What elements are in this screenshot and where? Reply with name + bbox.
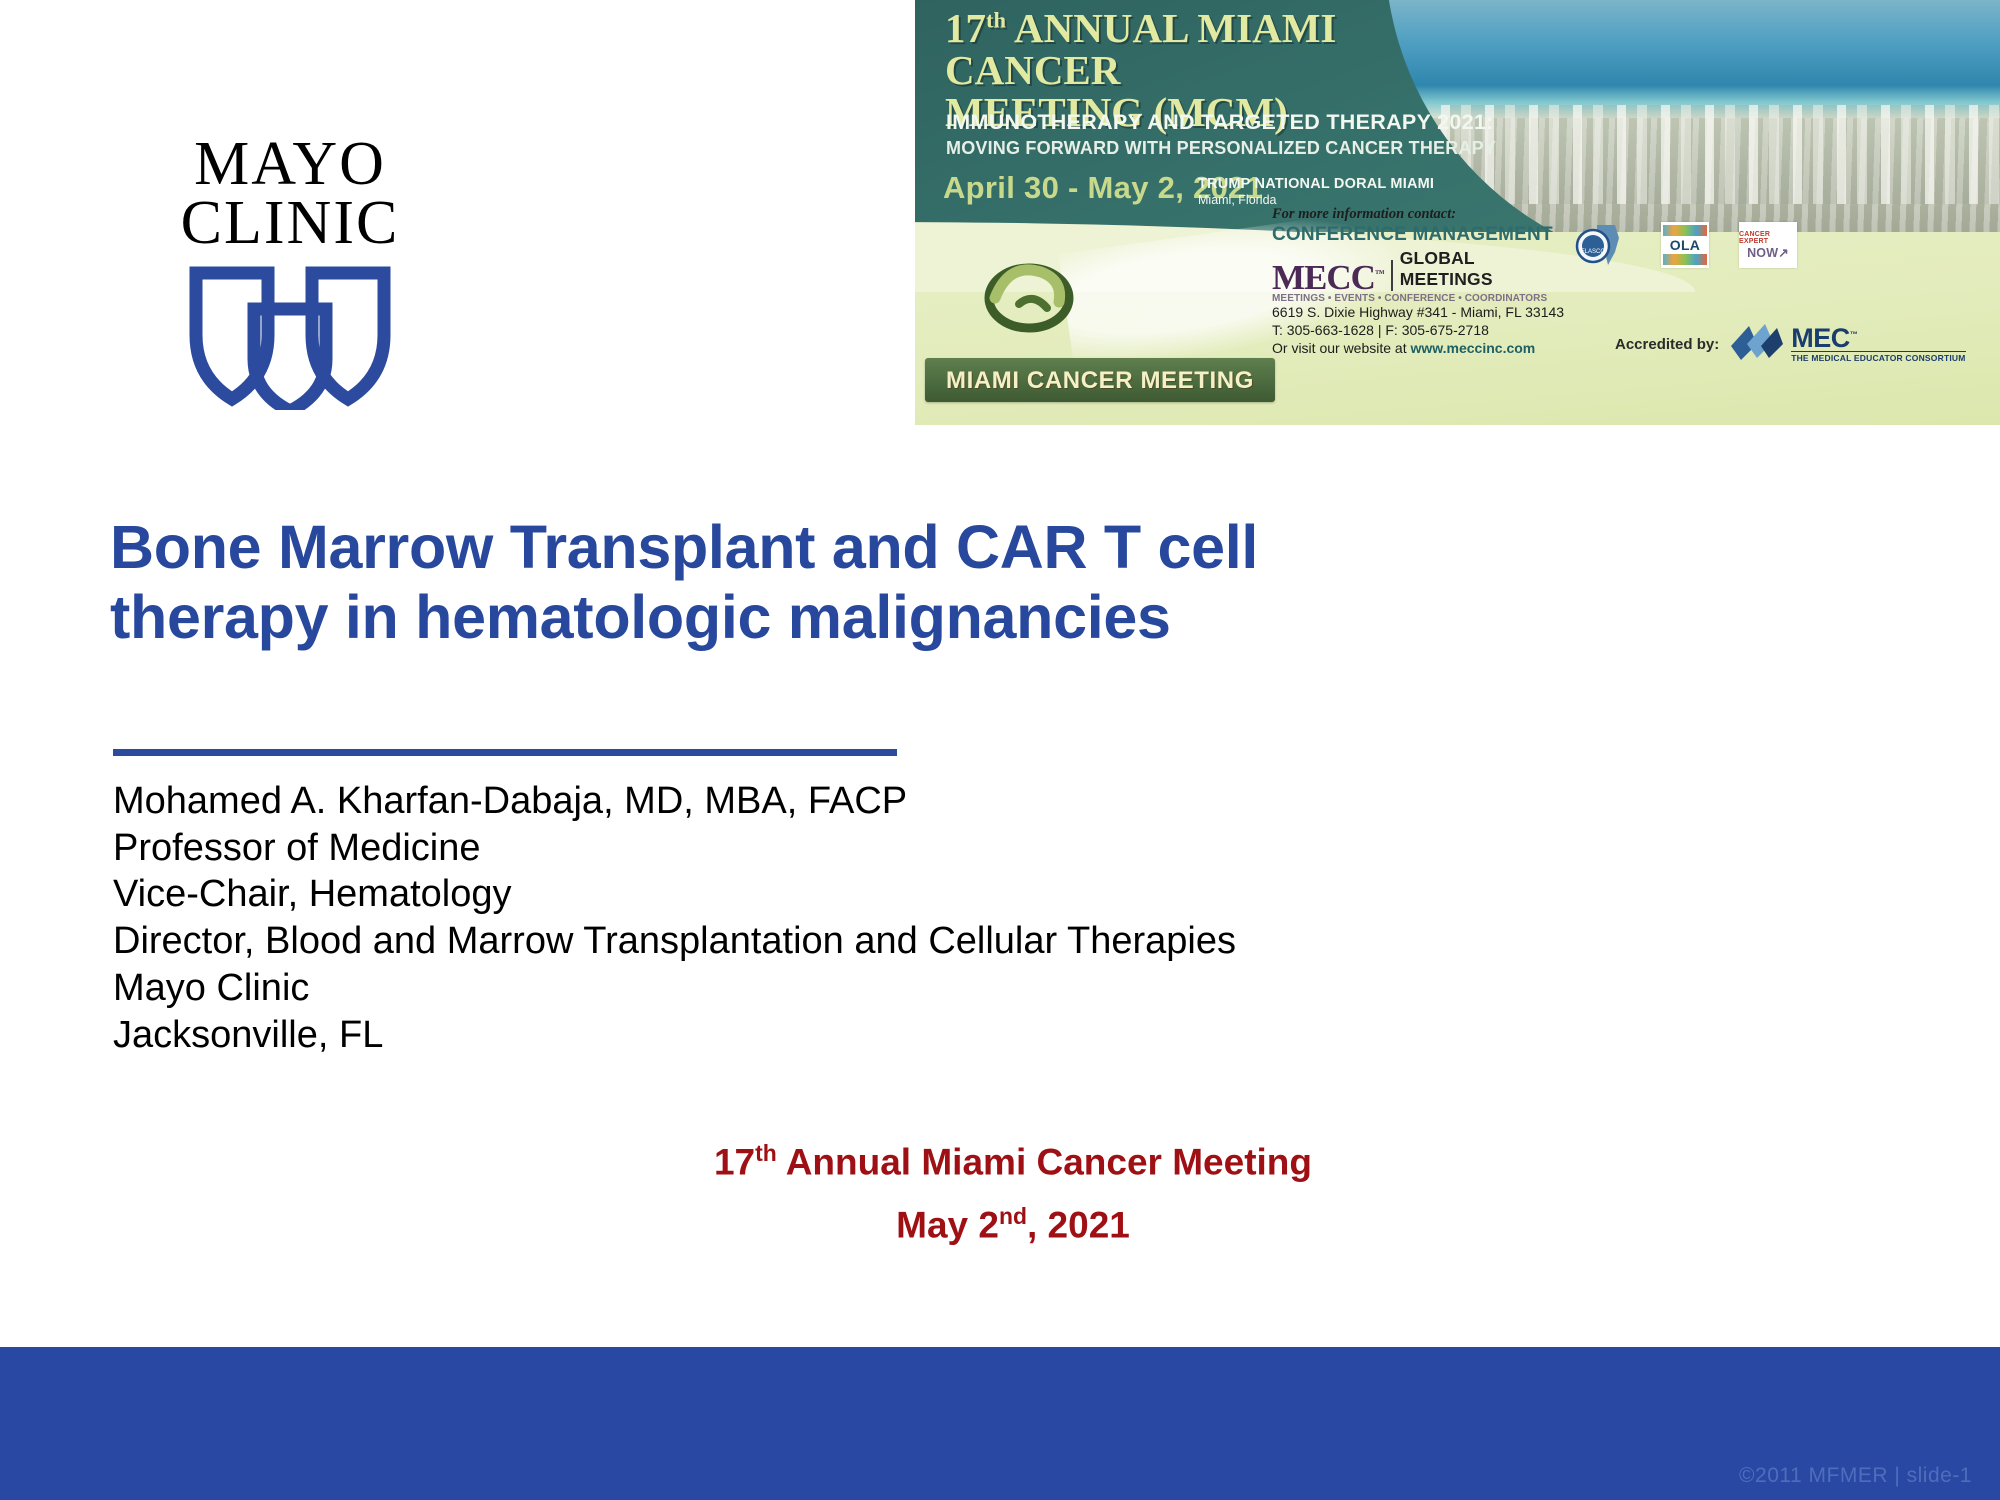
cancer-expert-now-badge: CANCER EXPERT NOW↗ [1739,222,1797,268]
cancer-expert-line2: NOW↗ [1747,245,1789,260]
conference-banner-image: 17th ANNUAL MIAMI CANCER MEETING (MCM) I… [915,0,2000,425]
mecc-tagline: MEETINGS • EVENTS • CONFERENCE • COORDIN… [1272,293,1572,304]
mec-chevron-icon [1727,322,1783,367]
svg-text:FLASCO: FLASCO [1581,249,1605,255]
title-divider-rule [113,749,897,756]
mec-subtitle: THE MEDICAL EDUCATOR CONSORTIUM [1791,351,1965,363]
contact-address: 6619 S. Dixie Highway #341 - Miami, FL 3… [1272,304,1572,322]
conference-contact-block: For more information contact: CONFERENCE… [1272,206,1572,358]
meeting-name-line: 17th Annual Miami Cancer Meeting [613,1140,1413,1183]
banner-venue-city: Miami, Florida [1198,193,1434,207]
flasco-badge-icon: FLASCO [1575,222,1631,268]
presenter-affiliation-block: Mohamed A. Kharfan-Dabaja, MD, MBA, FACP… [113,778,1813,1058]
presenter-role-vice-chair: Vice-Chair, Hematology [113,871,1813,918]
banner-venue: TRUMP NATIONAL DORAL MIAMI Miami, Florid… [1198,176,1434,207]
mecc-divider [1391,260,1393,291]
mayo-wordmark-line1: MAYO [150,135,430,194]
mec-wordmark: MEC™ [1791,326,1965,350]
ribbon-label: MIAMI CANCER MEETING [925,367,1275,395]
mecc-wordmark: MECC™ [1272,262,1384,294]
banner-subtitle-primary: IMMUNOTHERAPY AND TARGETED THERAPY 2021: [946,110,1586,135]
presenter-location: Jacksonville, FL [113,1012,1813,1059]
contact-phone: T: 305-663-1628 | F: 305-675-2718 [1272,322,1572,340]
accredited-by-label: Accredited by: [1615,336,1719,353]
miami-cancer-meeting-ribbon: MIAMI CANCER MEETING [925,358,1275,402]
contact-heading: CONFERENCE MANAGEMENT [1272,224,1572,246]
banner-venue-name: TRUMP NATIONAL DORAL MIAMI [1198,176,1434,193]
banner-partner-badges: FLASCO OLA CANCER EXPERT NOW↗ [1575,222,1797,268]
footer-copyright-slide-number: ©2011 MFMER | slide-1 [1739,1464,1972,1488]
banner-subtitle-secondary: MOVING FORWARD WITH PERSONALIZED CANCER … [946,138,1586,159]
mayo-clinic-logo: MAYO CLINIC [150,135,430,435]
presenter-title: Professor of Medicine [113,825,1813,872]
page-title-line1: Bone Marrow Transplant and CAR T cell [110,513,1670,583]
cancer-expert-line1: CANCER EXPERT [1739,231,1797,245]
banner-ring-logo-icon [975,246,1083,338]
contact-website-line: Or visit our website at www.meccinc.com [1272,340,1572,358]
mec-wordmark-group: MEC™ THE MEDICAL EDUCATOR CONSORTIUM [1791,326,1965,362]
page-title: Bone Marrow Transplant and CAR T cell th… [110,513,1670,652]
meeting-date-line: May 2nd, 2021 [613,1203,1413,1246]
presenter-institution: Mayo Clinic [113,965,1813,1012]
accreditation-block: Accredited by: MEC™ THE MEDICAL EDUCATOR… [1615,322,1966,367]
presenter-name: Mohamed A. Kharfan-Dabaja, MD, MBA, FACP [113,778,1813,825]
ola-badge-top-stripe [1663,225,1707,236]
page-title-line2: therapy in hematologic malignancies [110,583,1670,653]
ola-badge-bottom-stripe [1663,254,1707,265]
mecc-logo: MECC™ GLOBAL MEETINGS [1272,248,1572,294]
ola-badge: OLA [1661,222,1709,268]
contact-intro: For more information contact: [1272,206,1572,223]
mayo-triple-shield-icon [150,265,430,410]
footer-bar: ©2011 MFMER | slide-1 [0,1347,2000,1500]
contact-website-link[interactable]: www.meccinc.com [1411,340,1536,356]
ola-badge-label: OLA [1670,236,1700,254]
presenter-role-director: Director, Blood and Marrow Transplantati… [113,918,1813,965]
mayo-wordmark-line2: CLINIC [150,194,430,253]
mecc-global-meetings-label: GLOBAL MEETINGS [1400,248,1572,294]
